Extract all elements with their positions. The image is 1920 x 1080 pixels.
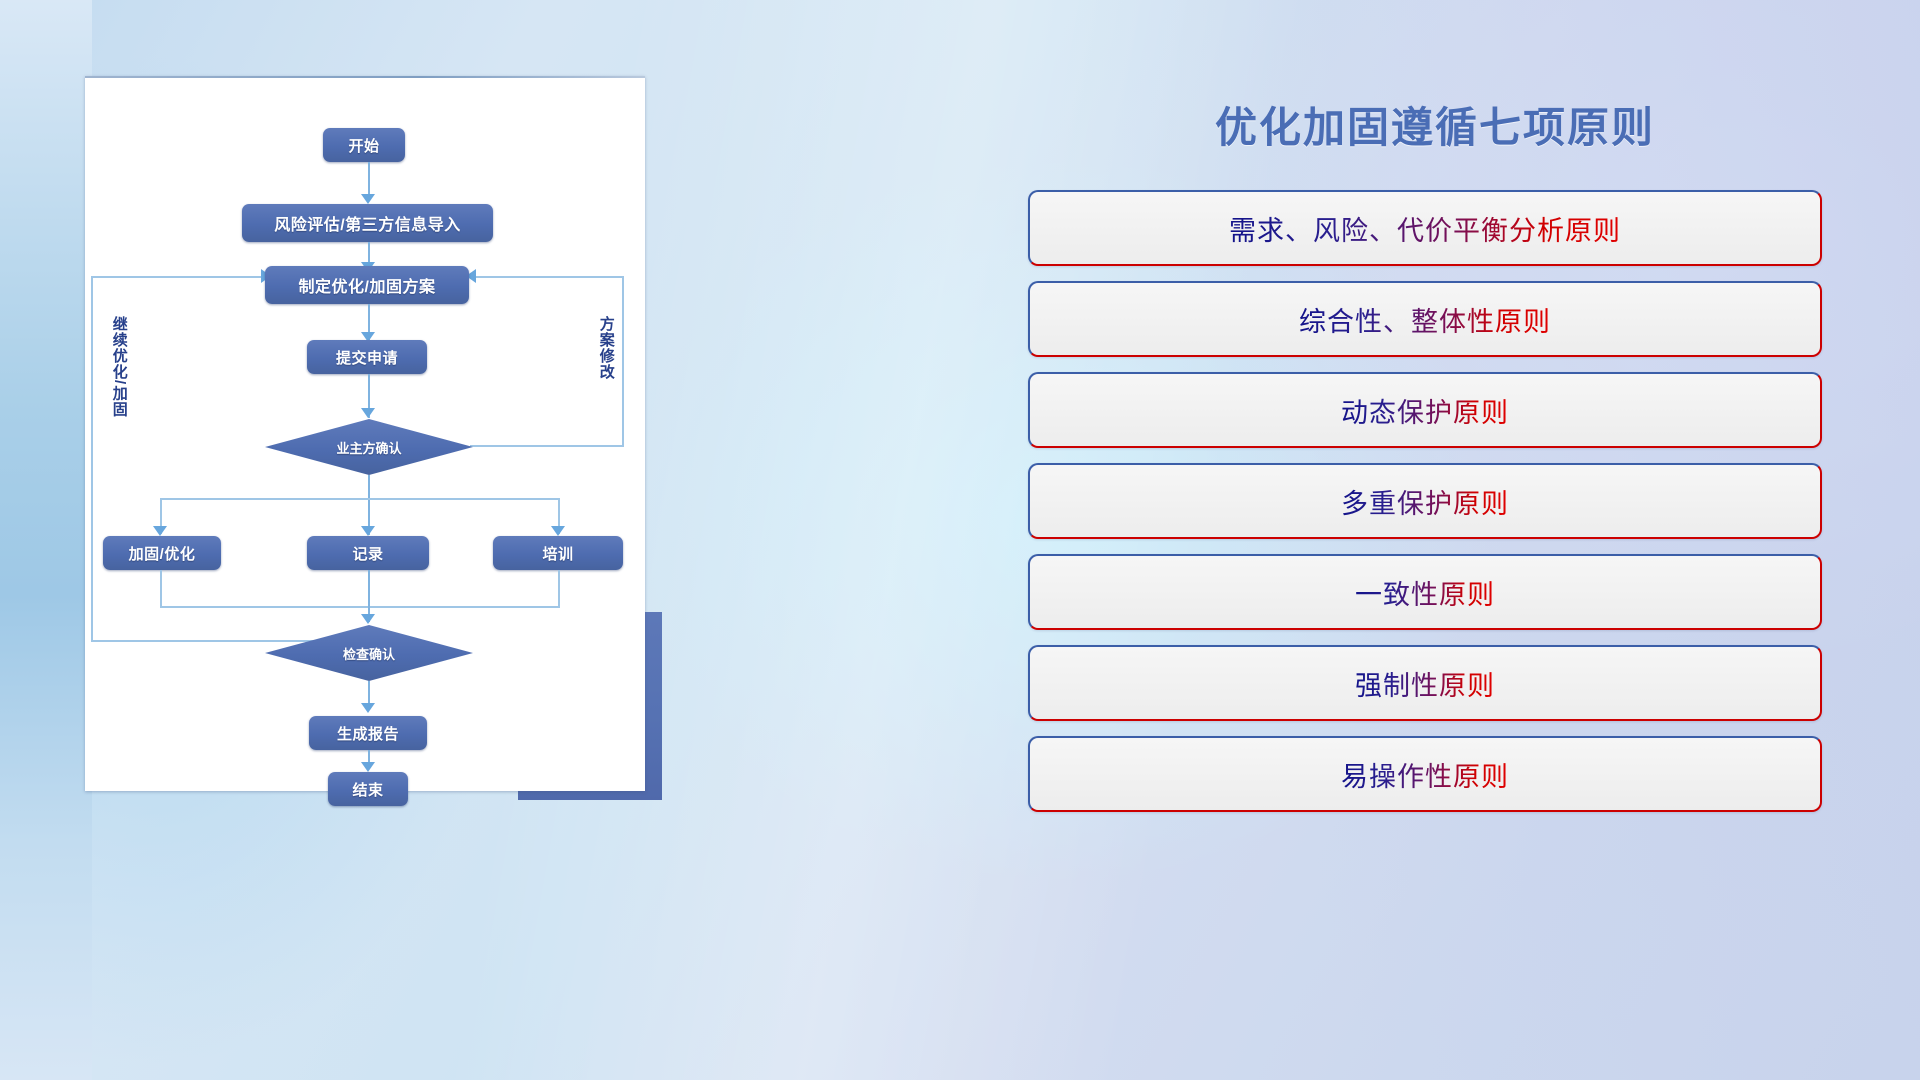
edge-merge-bar — [160, 606, 560, 608]
page-title: 优化加固遵循七项原则 — [1020, 94, 1850, 155]
node-plan[interactable]: 制定优化/加固方案 — [265, 266, 469, 304]
principle-label: 多重保护原则 — [1341, 482, 1509, 521]
arrow-report-to-end — [361, 762, 375, 772]
principle-card-1[interactable]: 需求、风险、代价平衡分析原则 — [1028, 190, 1822, 266]
arrow-submit-to-confirm — [361, 408, 375, 418]
arrow-to-training — [551, 526, 565, 536]
principle-card-4[interactable]: 多重保护原则 — [1028, 463, 1822, 539]
node-risk-assessment[interactable]: 风险评估/第三方信息导入 — [242, 204, 493, 242]
principle-label: 需求、风险、代价平衡分析原则 — [1229, 209, 1621, 248]
loop-right-bottom — [470, 445, 624, 447]
edge-confirm-fanout — [160, 498, 560, 500]
principle-label: 动态保护原则 — [1341, 391, 1509, 430]
background-left-strip — [0, 0, 92, 1080]
node-submit[interactable]: 提交申请 — [307, 340, 427, 374]
principle-card-6[interactable]: 强制性原则 — [1028, 645, 1822, 721]
arrow-start-to-risk — [361, 194, 375, 204]
principle-label: 综合性、整体性原则 — [1299, 300, 1551, 339]
node-training[interactable]: 培训 — [493, 536, 623, 570]
edge-training-down — [558, 570, 560, 608]
principle-label: 一致性原则 — [1355, 573, 1495, 612]
principle-card-7[interactable]: 易操作性原则 — [1028, 736, 1822, 812]
edge-start-to-risk — [368, 162, 370, 196]
edge-reinforce-down — [160, 570, 162, 608]
principle-label: 易操作性原则 — [1341, 755, 1509, 794]
principle-card-5[interactable]: 一致性原则 — [1028, 554, 1822, 630]
principle-card-2[interactable]: 综合性、整体性原则 — [1028, 281, 1822, 357]
node-check-confirm-label: 检查确认 — [265, 625, 473, 681]
principles-column: 优化加固遵循七项原则 需求、风险、代价平衡分析原则 综合性、整体性原则 动态保护… — [1020, 76, 1850, 1016]
node-end[interactable]: 结束 — [328, 772, 408, 806]
node-check-confirm[interactable]: 检查确认 — [265, 625, 473, 681]
arrow-to-reinforce — [153, 526, 167, 536]
node-start[interactable]: 开始 — [323, 128, 405, 162]
principle-card-3[interactable]: 动态保护原则 — [1028, 372, 1822, 448]
arrow-to-record — [361, 526, 375, 536]
edge-label-continue-loop: 继续优化/加固 — [111, 316, 127, 442]
node-owner-confirm-label: 业主方确认 — [265, 419, 473, 475]
edge-label-plan-revision: 方案修改 — [598, 316, 614, 412]
node-report[interactable]: 生成报告 — [309, 716, 427, 750]
panel-top-rule — [85, 76, 645, 78]
node-owner-confirm[interactable]: 业主方确认 — [265, 419, 473, 475]
flowchart-panel: 继续优化/加固 方案修改 开始 风险评估/第三方信息导入 制定优化/加固方案 提… — [85, 76, 645, 791]
arrow-to-check — [361, 614, 375, 624]
principle-label: 强制性原则 — [1355, 664, 1495, 703]
arrow-check-to-report — [361, 703, 375, 713]
loop-left-top — [91, 276, 263, 278]
node-reinforce[interactable]: 加固/优化 — [103, 536, 221, 570]
loop-right-top — [475, 276, 624, 278]
loop-right-edge — [622, 276, 624, 446]
loop-left-edge — [91, 276, 93, 642]
node-record[interactable]: 记录 — [307, 536, 429, 570]
